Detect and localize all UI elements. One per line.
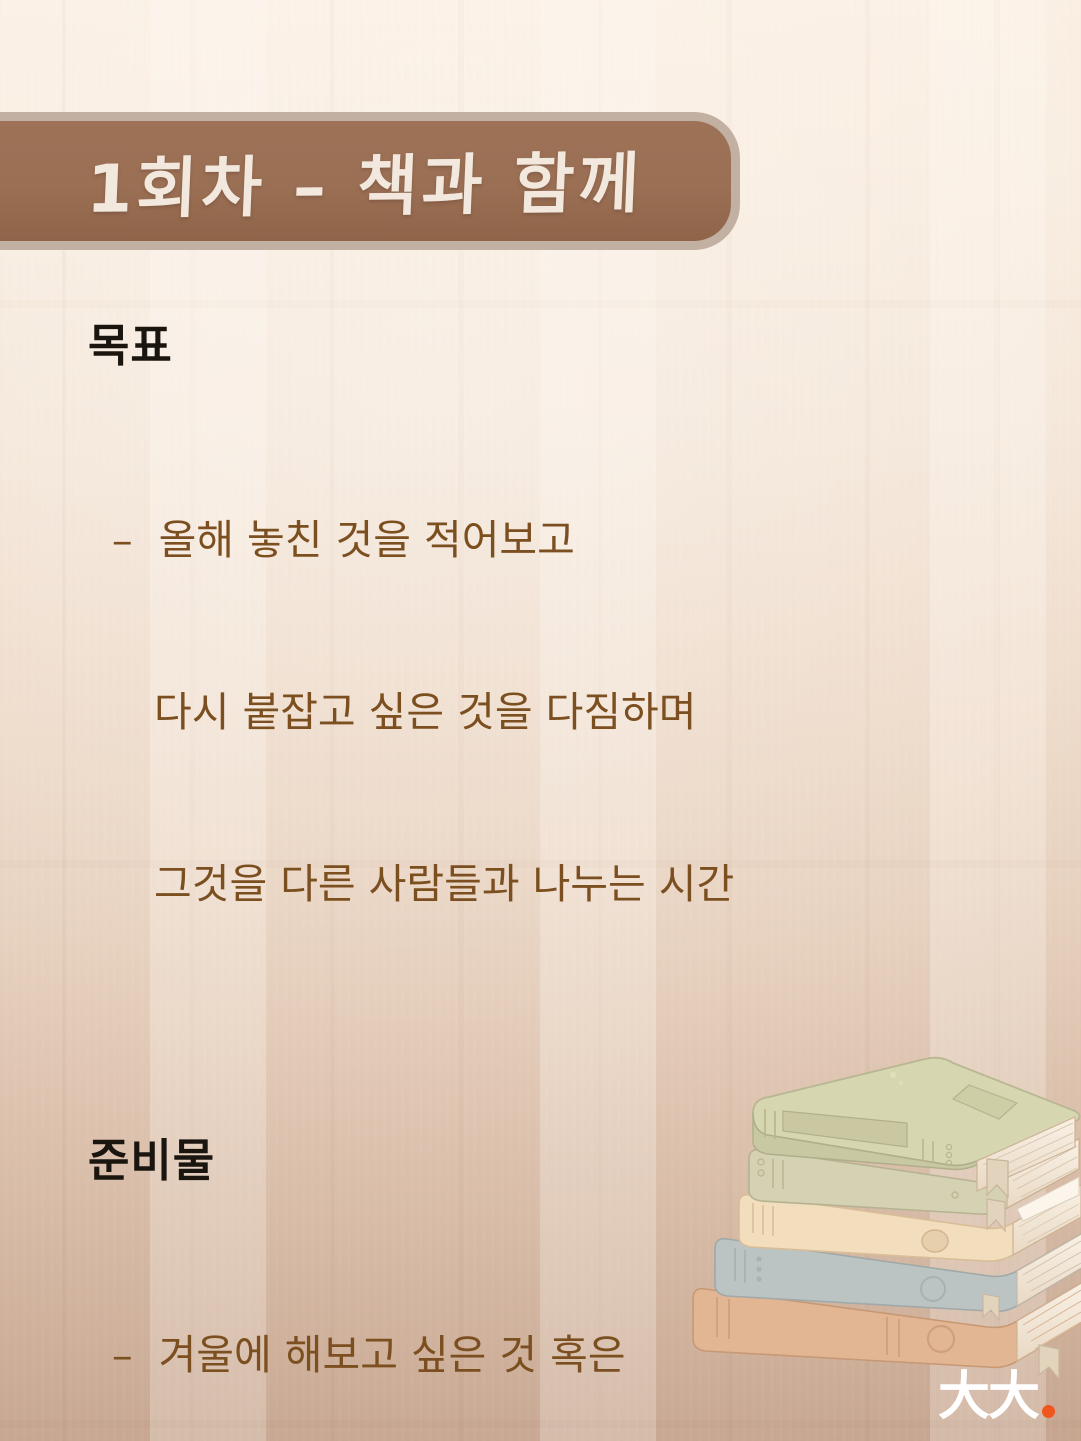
section-heading-materials: 준비물 [88, 1137, 968, 1184]
bullet-list-materials: – 겨울에 해보고 싶은 것 혹은 나누고 싶은 것이 담긴 책 가져오기 [112, 1212, 968, 1441]
title-banner: 1회차 – 책과 함께 [0, 112, 740, 250]
section-goal: 목표 – 올해 놓친 것을 적어보고 다시 붙잡고 싶은 것을 다짐하며 그것을… [88, 322, 968, 1029]
logo-wordmark: 大大 [938, 1371, 1038, 1423]
bullet-list-goal: – 올해 놓친 것을 적어보고 다시 붙잡고 싶은 것을 다짐하며 그것을 다른… [112, 397, 968, 1028]
bullet-line: 다시 붙잡고 싶은 것을 다짐하며 [112, 684, 968, 741]
bullet-line: – 겨울에 해보고 싶은 것 혹은 [112, 1327, 968, 1384]
brand-logo: 大大 [938, 1371, 1055, 1423]
section-materials: 준비물 – 겨울에 해보고 싶은 것 혹은 나누고 싶은 것이 담긴 책 가져오… [88, 1137, 968, 1441]
slide-canvas: 1회차 – 책과 함께 목표 – 올해 놓친 것을 적어보고 다시 붙잡고 싶은… [0, 0, 1081, 1441]
logo-dot-icon [1042, 1405, 1055, 1418]
slide-body: 목표 – 올해 놓친 것을 적어보고 다시 붙잡고 싶은 것을 다짐하며 그것을… [88, 322, 968, 1441]
slide-title: 1회차 – 책과 함께 [85, 130, 645, 232]
bullet-line: 그것을 다른 사람들과 나누는 시간 [112, 856, 968, 913]
section-heading-goal: 목표 [88, 322, 968, 369]
bullet-line: – 올해 놓친 것을 적어보고 [112, 512, 968, 569]
section-spacer [88, 1029, 968, 1137]
